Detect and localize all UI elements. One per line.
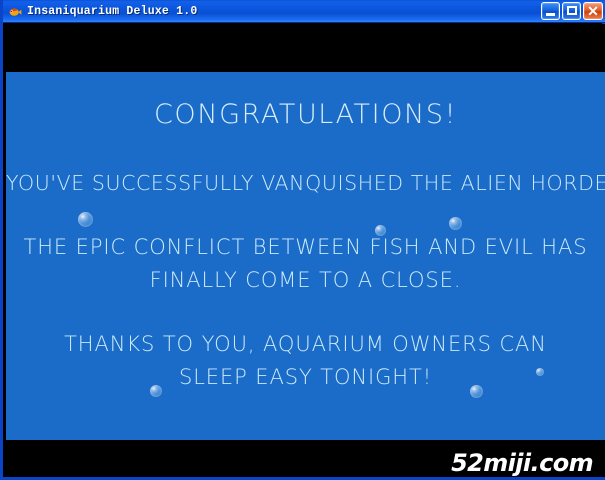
message-line-4: THANKS TO YOU, AQUARIUM OWNERS CAN	[6, 332, 605, 356]
window-title: Insaniquarium Deluxe 1.0	[27, 5, 197, 18]
maximize-button[interactable]	[562, 2, 581, 20]
close-button[interactable]: ✕	[583, 2, 603, 20]
site-watermark: 52miji.com	[451, 449, 593, 477]
message-line-1: YOU'VE SUCCESSFULLY VANQUISHED THE ALIEN…	[6, 171, 605, 195]
title-bar[interactable]: Insaniquarium Deluxe 1.0 ✕	[3, 0, 605, 23]
message-line-2: THE EPIC CONFLICT BETWEEN FISH AND EVIL …	[6, 235, 605, 259]
game-canvas[interactable]: CONGRATULATIONS! YOU'VE SUCCESSFULLY VAN…	[6, 24, 605, 477]
message-line-3: FINALLY COME TO A CLOSE.	[6, 268, 605, 292]
bubble-3	[449, 217, 462, 230]
letterbox-top	[6, 24, 605, 72]
bubble-1	[78, 212, 93, 227]
application-window: Insaniquarium Deluxe 1.0 ✕ CONGRATULATIO…	[0, 0, 605, 480]
fish-icon	[7, 4, 22, 19]
maximize-icon	[567, 6, 577, 15]
congratulations-title: CONGRATULATIONS!	[6, 99, 605, 130]
message-line-5: SLEEP EASY TONIGHT!	[6, 365, 605, 389]
ending-screen: CONGRATULATIONS! YOU'VE SUCCESSFULLY VAN…	[6, 72, 605, 440]
title-bar-left: Insaniquarium Deluxe 1.0	[7, 0, 541, 22]
window-controls: ✕	[541, 2, 603, 20]
minimize-icon	[546, 13, 555, 16]
close-icon: ✕	[584, 3, 602, 19]
minimize-button[interactable]	[541, 2, 560, 20]
